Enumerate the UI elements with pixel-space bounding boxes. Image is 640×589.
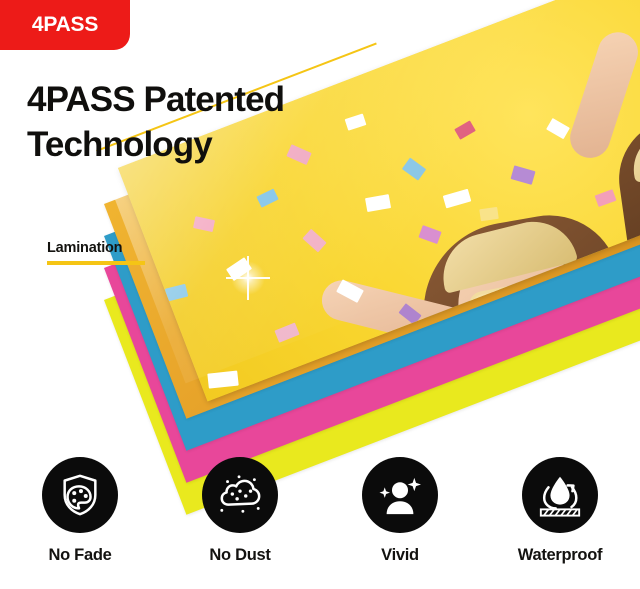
brand-badge: 4PASS <box>0 0 130 50</box>
feature-item-vivid: Vivid <box>320 457 480 581</box>
brand-badge-label: 4PASS <box>32 13 98 37</box>
feature-icon-circle <box>362 457 438 533</box>
page-title-line1: 4PASS Patented <box>27 80 284 119</box>
feature-label: No Fade <box>49 546 112 565</box>
person-sparkle-icon <box>378 474 422 516</box>
shield-palette-icon <box>57 472 103 518</box>
lamination-sparkle-icon <box>228 258 268 298</box>
feature-row: No Fade No Dus <box>0 457 640 581</box>
feature-icon-circle <box>522 457 598 533</box>
feature-label: Vivid <box>381 546 419 565</box>
feature-item-no-fade: No Fade <box>0 457 160 581</box>
feature-item-no-dust: No Dust <box>160 457 320 581</box>
dust-cloud-icon <box>216 472 264 518</box>
lamination-callout: Lamination <box>47 240 145 265</box>
feature-label: No Dust <box>209 546 270 565</box>
water-drop-surface-icon <box>536 472 584 518</box>
lamination-callout-label: Lamination <box>47 240 145 256</box>
feature-item-waterproof: Waterproof <box>480 457 640 581</box>
feature-icon-circle <box>42 457 118 533</box>
confetti <box>479 207 498 221</box>
page-title-line2: Technology <box>27 123 284 168</box>
feature-icon-circle <box>202 457 278 533</box>
feature-label: Waterproof <box>518 546 602 565</box>
page-title: 4PASS Patented Technology <box>27 78 284 168</box>
promo-graphic: 4PASS 4PASS Patented Technology Laminati… <box>0 0 640 589</box>
lamination-callout-rule <box>47 261 145 265</box>
confetti <box>207 371 238 389</box>
